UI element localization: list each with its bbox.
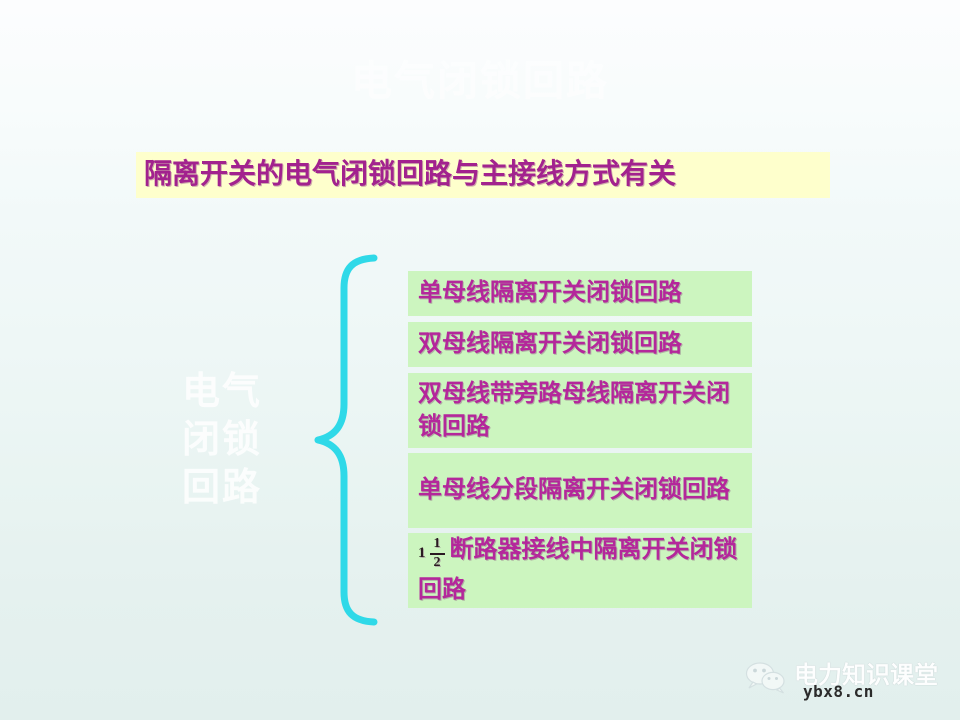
fraction-denominator: 2	[432, 556, 443, 571]
fraction-integer-part: 1	[418, 537, 426, 574]
list-item-label: 单母线分段隔离开关闭锁回路	[418, 474, 730, 507]
watermark: 电力知识课堂 ybx8.cn	[742, 655, 956, 711]
page-title: 电气闭锁回路	[0, 57, 960, 105]
slide-canvas: 电气闭锁回路 隔离开关的电气闭锁回路与主接线方式有关 电气 闭锁 回路 单母线隔…	[0, 0, 960, 720]
list-item: 双母线隔离开关闭锁回路	[408, 322, 752, 367]
fraction: 12	[430, 537, 445, 570]
wechat-icon	[744, 661, 790, 695]
banner-text: 隔离开关的电气闭锁回路与主接线方式有关	[136, 158, 676, 192]
left-category-label: 电气 闭锁 回路	[160, 368, 284, 512]
fraction-numerator: 1	[432, 537, 443, 552]
left-category-label-row-3: 回路	[160, 464, 284, 512]
left-category-label-row-1: 电气	[160, 368, 284, 416]
list-item: 112断路器接线中隔离开关闭锁回路	[408, 533, 752, 608]
list-item-label: 双母线带旁路母线隔离开关闭锁回路	[418, 378, 746, 444]
list-item: 单母线隔离开关闭锁回路	[408, 271, 752, 316]
list-item-label: 双母线隔离开关闭锁回路	[418, 328, 682, 361]
list-item-label: 断路器接线中隔离开关闭锁回路	[418, 537, 738, 603]
list-item: 单母线分段隔离开关闭锁回路	[408, 453, 752, 528]
left-category-label-row-2: 闭锁	[160, 416, 284, 464]
banner: 隔离开关的电气闭锁回路与主接线方式有关	[136, 152, 830, 198]
list-item-label-with-fraction: 112断路器接线中隔离开关闭锁回路	[418, 534, 746, 607]
one-and-a-half-fraction: 112	[418, 537, 450, 574]
left-curly-brace-icon	[312, 252, 388, 628]
watermark-url: ybx8.cn	[803, 683, 874, 701]
list-item: 双母线带旁路母线隔离开关闭锁回路	[408, 373, 752, 448]
list-item-label: 单母线隔离开关闭锁回路	[418, 277, 682, 310]
